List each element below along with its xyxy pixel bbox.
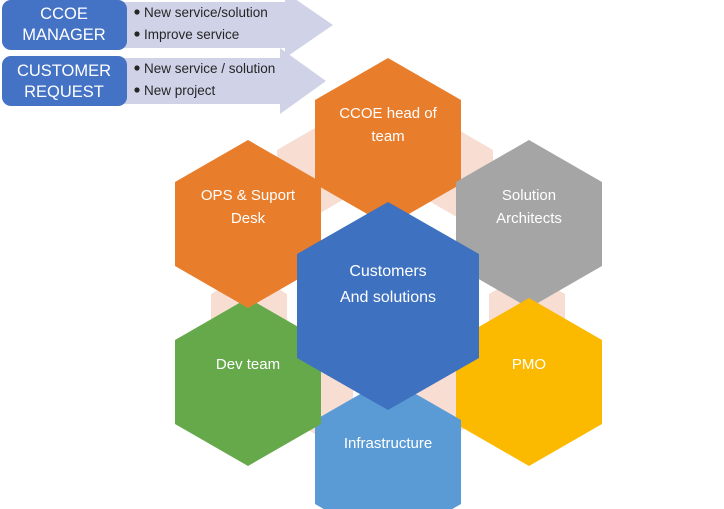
callout-customer-request-bullet-1: New service / solution	[144, 61, 275, 76]
callout-ccoe-manager[interactable]: CCOE MANAGER New service/solution Improv…	[2, 0, 333, 58]
diagram-canvas: CCOE head of team Solution Architects PM…	[0, 0, 724, 509]
callout-customer-request-bullet-2: New project	[144, 83, 216, 98]
callout-ccoe-manager-bullet-1: New service/solution	[144, 5, 268, 20]
callout-ccoe-manager-title-1: CCOE	[40, 5, 88, 23]
bullet-dot-icon	[134, 9, 139, 14]
callout-ccoe-manager-title-2: MANAGER	[22, 26, 106, 44]
bullet-dot-icon	[134, 31, 139, 36]
bullet-dot-icon	[134, 87, 139, 92]
callout-customer-request-title-2: REQUEST	[24, 83, 104, 101]
callout-ccoe-manager-bullet-2: Improve service	[144, 27, 239, 42]
callout-customer-request-title-1: CUSTOMER	[17, 62, 111, 80]
arrow-customer-request	[110, 48, 326, 114]
callout-customer-request[interactable]: CUSTOMER REQUEST New service / solution …	[2, 48, 326, 114]
callout-layer: CCOE MANAGER New service/solution Improv…	[0, 0, 724, 509]
bullet-dot-icon	[134, 65, 139, 70]
